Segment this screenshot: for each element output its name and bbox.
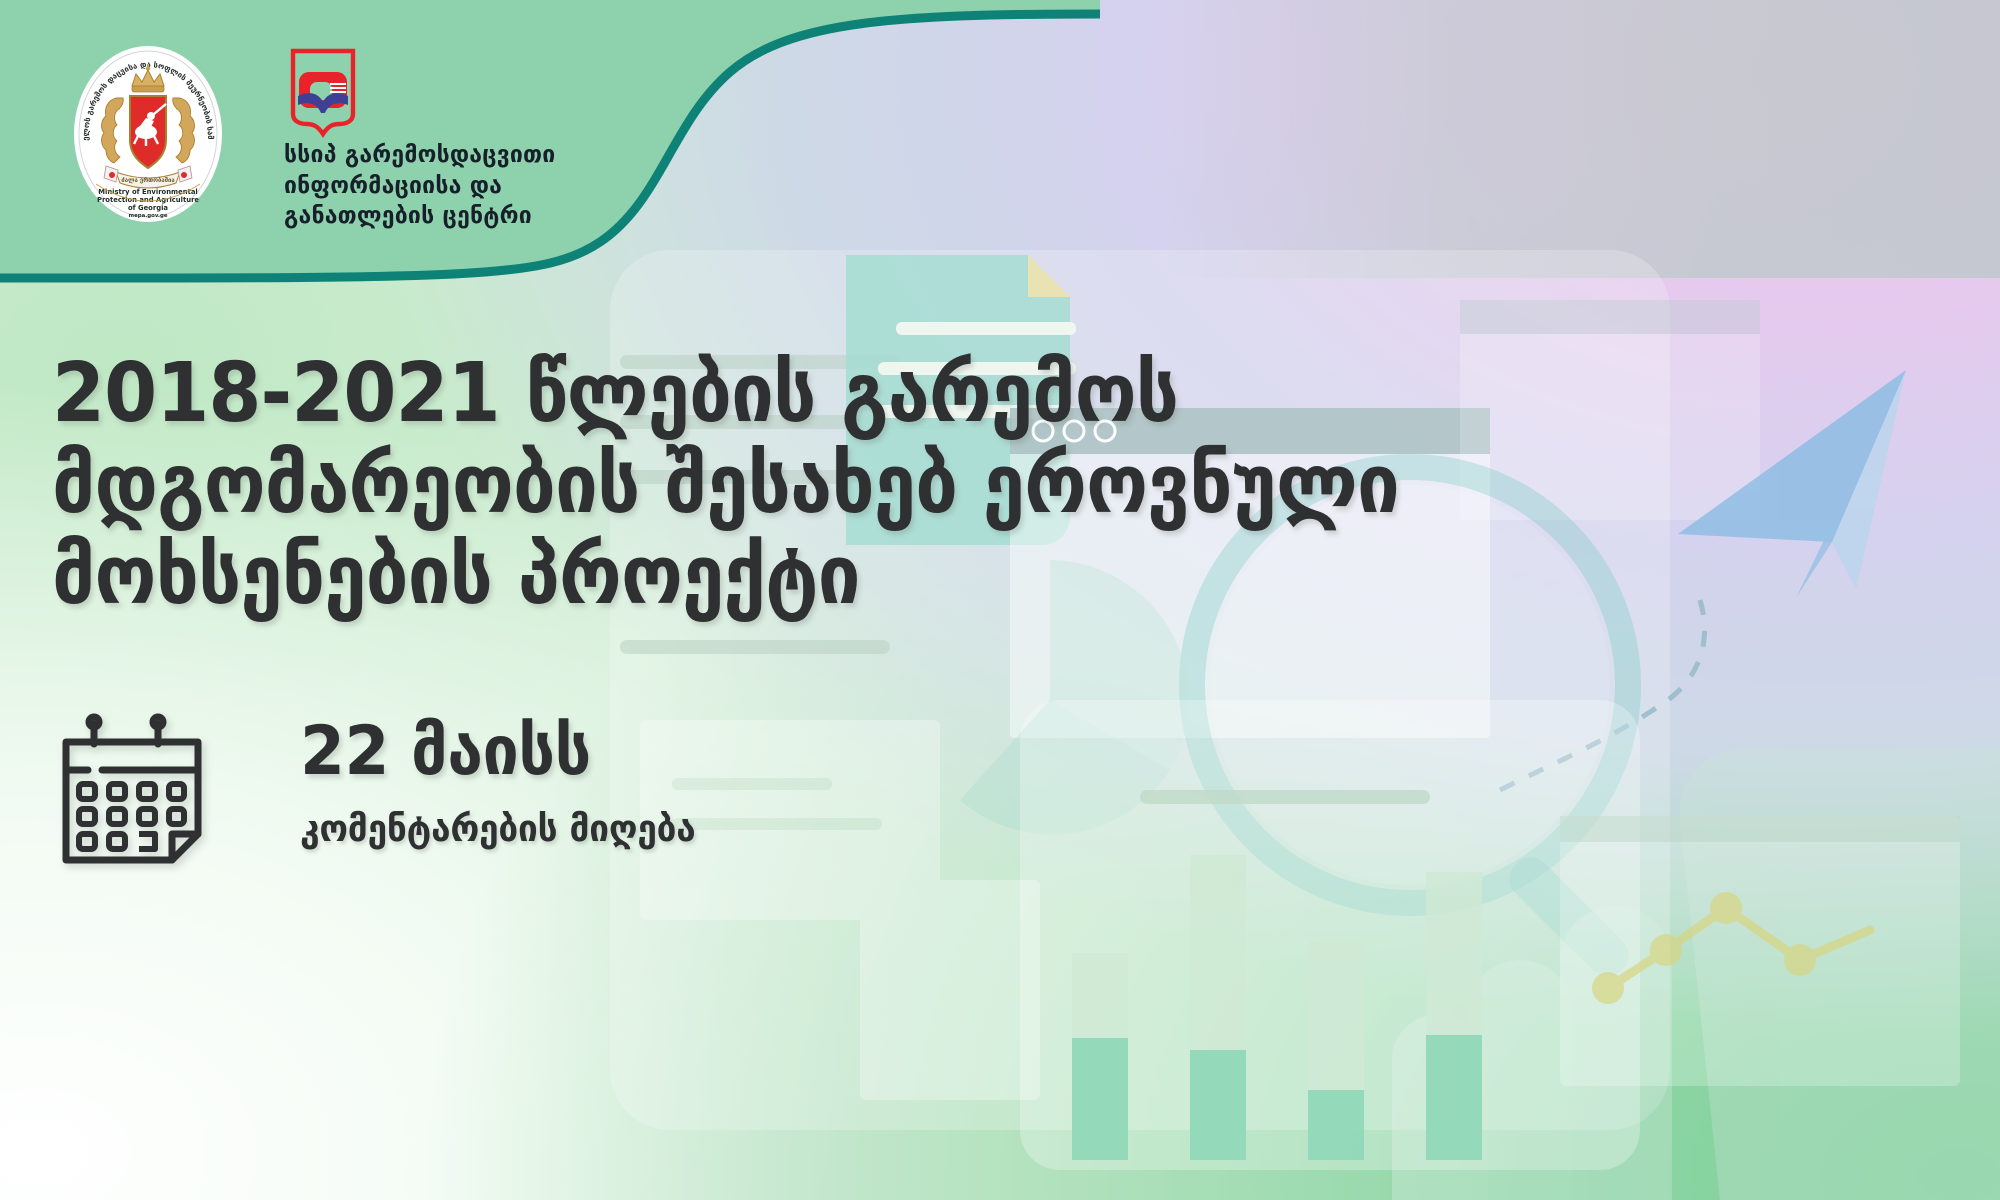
bar-chart-illustration xyxy=(1020,700,1640,1170)
svg-text:ძალა ერთობაშია: ძალა ერთობაშია xyxy=(121,177,175,184)
page-title: 2018-2021 წლების გარემოს მდგომარეობის შე… xyxy=(52,348,1559,621)
logo-row: საქართველოს გარემოს დაცვისა და სოფლის მე… xyxy=(0,0,1000,300)
line-chart-illustration xyxy=(1560,816,1960,1086)
emblem-line-3: of Georgia xyxy=(128,204,168,212)
title-line-2: მდგომარეობის შესახებ ეროვნული xyxy=(52,439,1559,530)
title-line-1: 2018-2021 წლების გარემოს xyxy=(52,348,1559,439)
deadline-date: 22 მაისს xyxy=(300,718,832,786)
emblem-line-1: Ministry of Environmental xyxy=(98,188,198,196)
deadline-text: 22 მაისს კომენტარების მიღება xyxy=(300,718,860,847)
partner-name-line-3: განათლების ცენტრი xyxy=(284,201,584,232)
partner-name-line-1: სსიპ გარემოსდაცვითი xyxy=(284,140,584,171)
partner-name-line-2: ინფორმაციისა და xyxy=(284,171,584,202)
calendar-icon xyxy=(52,708,212,868)
poster-canvas: საქართველოს გარემოს დაცვისა და სოფლის მე… xyxy=(0,0,2000,1200)
title-line-3: მოხსენების პროექტი xyxy=(52,530,1559,621)
deadline-block: 22 მაისს კომენტარების მიღება xyxy=(52,700,872,920)
shield-icon xyxy=(130,96,166,168)
emblem-line-2: Protection and Agriculture xyxy=(97,196,199,204)
deadline-caption: კომენტარების მიღება xyxy=(300,810,832,847)
shield-book-logo-icon xyxy=(288,46,358,142)
emblem-line-4: mepa.gov.ge xyxy=(128,213,167,219)
partner-logo-name: სსიპ გარემოსდაცვითი ინფორმაციისა და განა… xyxy=(284,140,584,232)
georgia-coat-of-arms-emblem: საქართველოს გარემოს დაცვისა და სოფლის მე… xyxy=(72,44,224,224)
